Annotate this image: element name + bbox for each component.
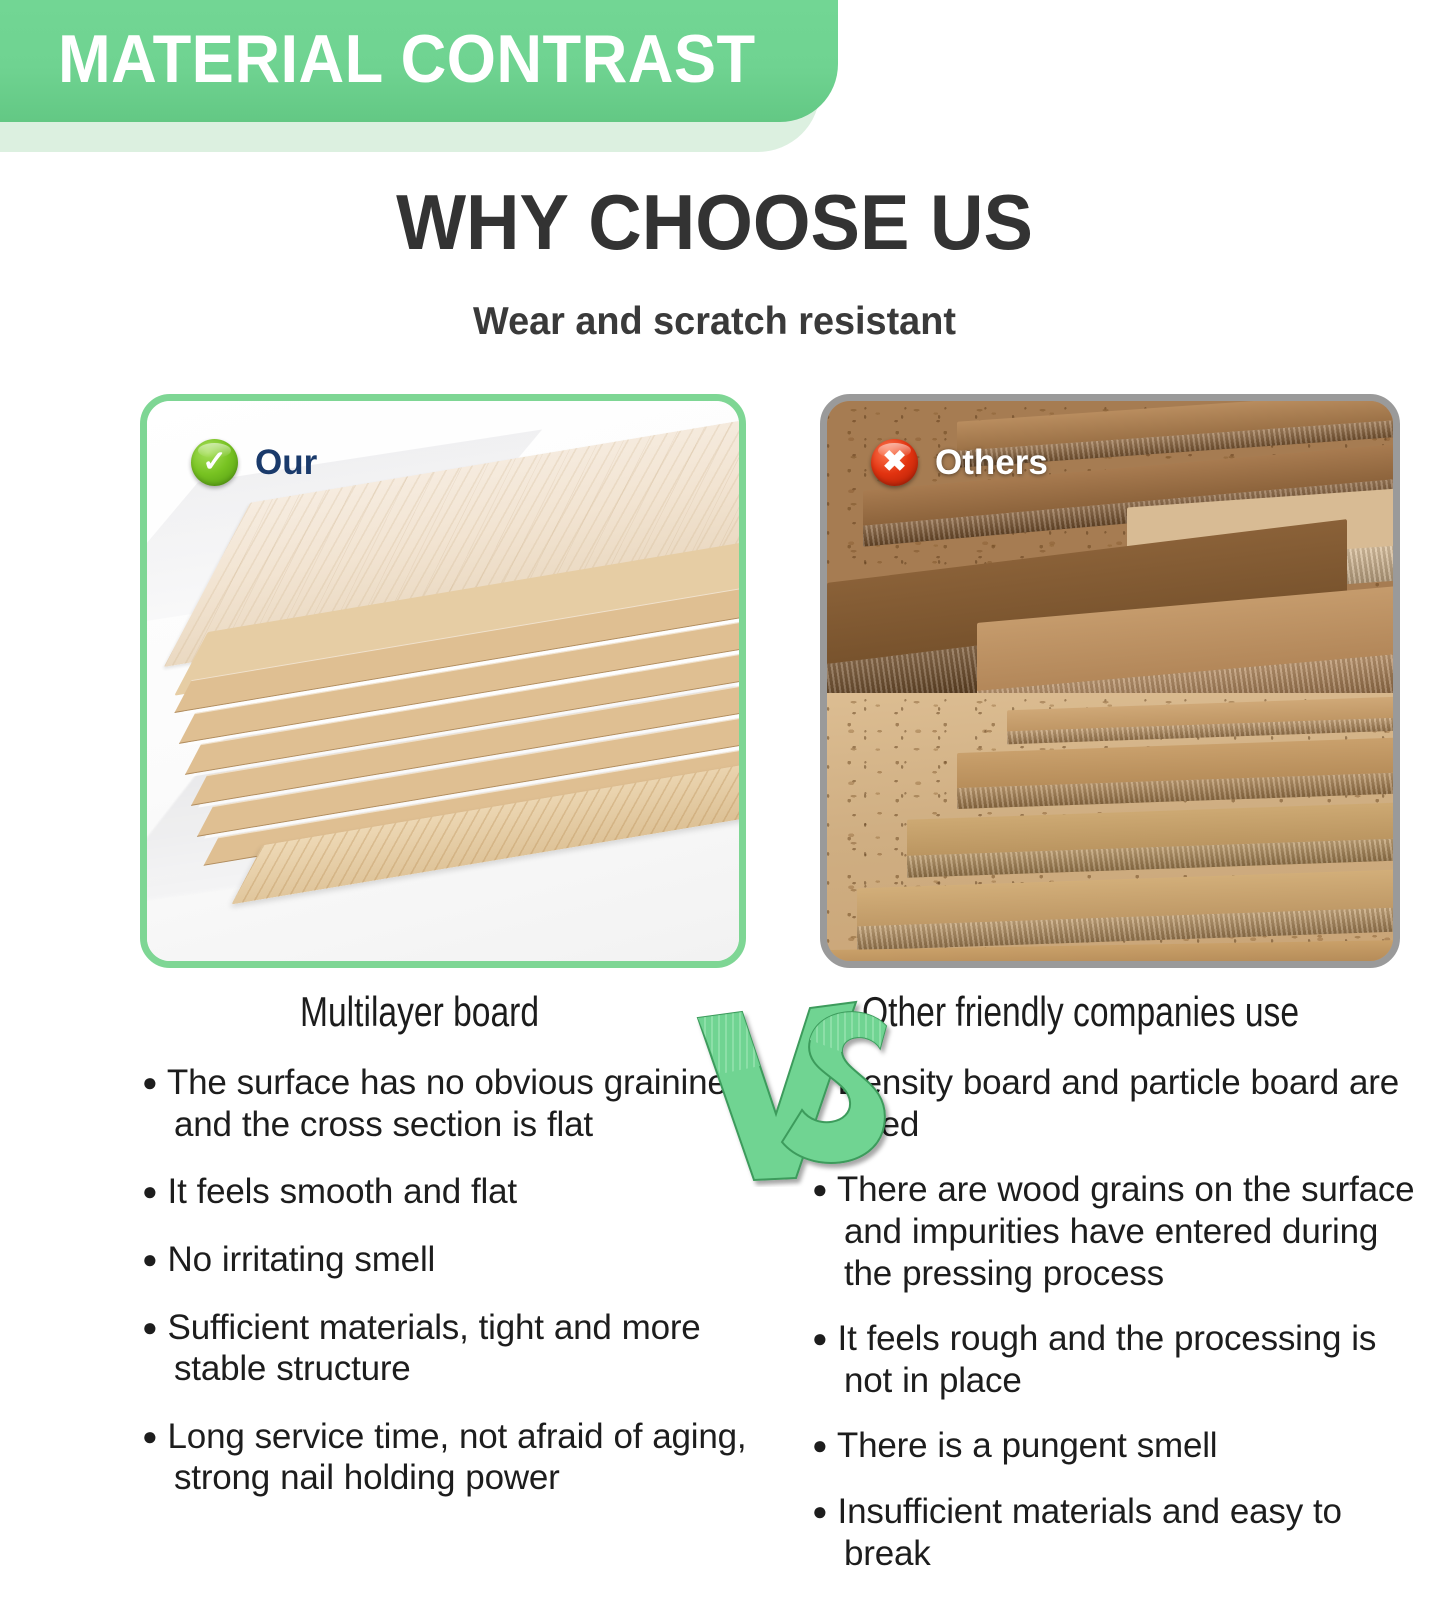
list-item: ● No irritating smell xyxy=(142,1239,772,1281)
page-subtitle: Wear and scratch resistant xyxy=(21,300,1407,344)
list-item-text: Long service time, not afraid of aging, … xyxy=(168,1417,747,1498)
list-item-text: Insufficient materials and easy to break xyxy=(838,1492,1342,1573)
our-caption: Multilayer board xyxy=(300,988,539,1036)
bullet-dot-icon: ● xyxy=(142,1312,158,1342)
slab-edge-top-5 xyxy=(977,647,1393,693)
bullet-dot-icon: ● xyxy=(142,1067,158,1097)
heading-block: WHY CHOOSE US Wear and scratch resistant xyxy=(0,182,1429,344)
list-item-text: There is a pungent smell xyxy=(837,1426,1217,1465)
list-item-text: Sufficient materials, tight and more sta… xyxy=(168,1308,701,1389)
our-badge-label: Our xyxy=(255,443,317,483)
others-caption: Other friendly companies use xyxy=(862,988,1299,1036)
particle-board-photo-bottom xyxy=(827,693,1393,961)
list-item: ● There is a pungent smell xyxy=(812,1425,1429,1467)
list-item: ● The surface has no obvious graininess … xyxy=(142,1062,772,1145)
our-feature-list: ● The surface has no obvious graininess … xyxy=(142,1062,772,1525)
bullet-dot-icon: ● xyxy=(142,1421,158,1451)
comparison-panels: ✓ Our xyxy=(0,394,1429,974)
list-item-text: The surface has no obvious graininess an… xyxy=(167,1063,761,1144)
bullet-dot-icon: ● xyxy=(812,1430,828,1460)
our-badge-row: ✓ Our xyxy=(191,439,317,486)
x-circle-icon: ✖ xyxy=(871,439,918,486)
header-banner: MATERIAL CONTRAST xyxy=(0,0,838,162)
bullet-dot-icon: ● xyxy=(142,1176,158,1206)
list-item: ● It feels rough and the processing is n… xyxy=(812,1318,1429,1401)
list-item-text: It feels smooth and flat xyxy=(168,1172,517,1211)
others-panel-artwork: ✖ Others xyxy=(827,401,1393,961)
check-glyph: ✓ xyxy=(202,448,226,477)
list-item: ● Sufficient materials, tight and more s… xyxy=(142,1307,772,1390)
list-item-text: Density board and particle board are use… xyxy=(838,1063,1399,1144)
bullet-dot-icon: ● xyxy=(142,1244,158,1274)
others-badge-label: Others xyxy=(935,443,1048,483)
list-item: ● There are wood grains on the surface a… xyxy=(812,1169,1429,1294)
list-item: ● It feels smooth and flat xyxy=(142,1171,772,1213)
banner-main-layer: MATERIAL CONTRAST xyxy=(0,0,838,122)
list-item: ● Insufficient materials and easy to bre… xyxy=(812,1491,1429,1574)
page-title: WHY CHOOSE US xyxy=(36,182,1394,264)
check-circle-icon: ✓ xyxy=(191,439,238,486)
our-panel-artwork: ✓ Our xyxy=(147,401,739,961)
our-product-panel: ✓ Our xyxy=(140,394,746,968)
others-badge-row: ✖ Others xyxy=(871,439,1048,486)
others-product-panel: ✖ Others xyxy=(820,394,1400,968)
list-item: ● Long service time, not afraid of aging… xyxy=(142,1416,772,1499)
list-item-text: It feels rough and the processing is not… xyxy=(838,1319,1377,1400)
list-item-text: No irritating smell xyxy=(168,1240,436,1279)
vs-icon xyxy=(690,982,900,1187)
bullet-dot-icon: ● xyxy=(812,1496,828,1526)
banner-title: MATERIAL CONTRAST xyxy=(58,25,756,93)
list-item-text: There are wood grains on the surface and… xyxy=(837,1170,1415,1292)
x-glyph: ✖ xyxy=(882,448,906,477)
bullet-dot-icon: ● xyxy=(812,1323,828,1353)
list-item: ● Density board and particle board are u… xyxy=(812,1062,1429,1145)
others-feature-list: ● Density board and particle board are u… xyxy=(812,1062,1429,1598)
